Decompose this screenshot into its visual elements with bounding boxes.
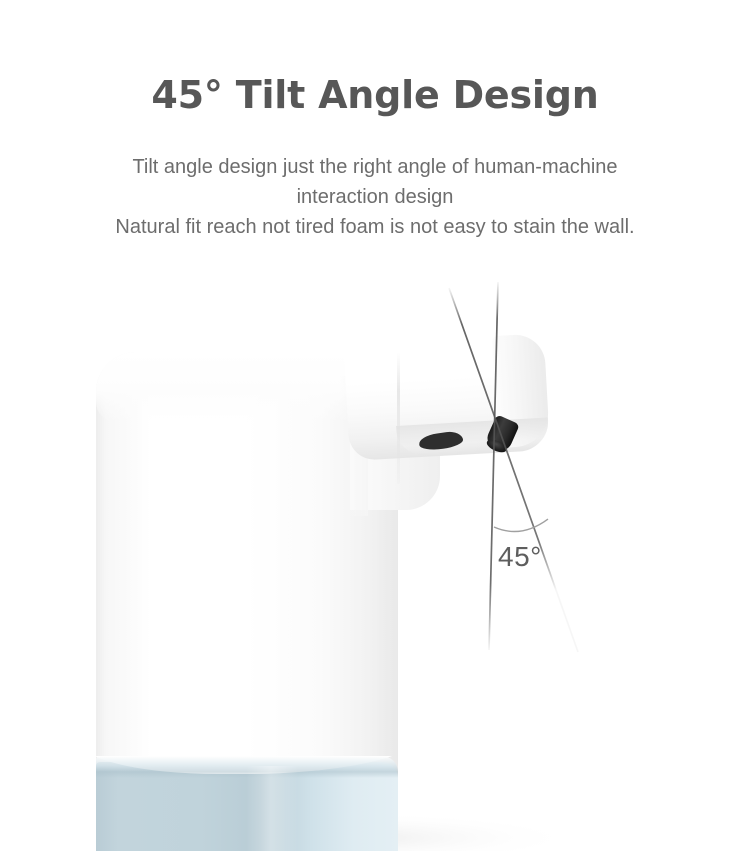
liquid-tank (96, 756, 398, 851)
product-image (0, 0, 750, 851)
liquid-tank-sheen (246, 766, 298, 851)
dispenser-body-crease (397, 352, 400, 484)
product-feature-page: 45° Tilt Angle Design Tilt angle design … (0, 0, 750, 851)
angle-value-label: 45° (498, 541, 542, 573)
